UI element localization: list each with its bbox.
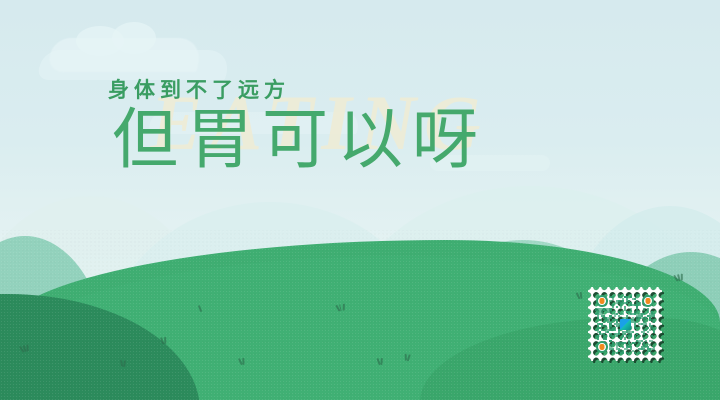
qr-finder-icon xyxy=(642,295,654,307)
poster-canvas: EATING 身体到不了远方 但胃可以呀 xyxy=(0,0,720,400)
poster-headline: 但胃可以呀 xyxy=(112,100,487,180)
qr-center-logo-icon xyxy=(620,319,631,330)
qr-code-modules xyxy=(595,294,655,354)
qr-finder-icon xyxy=(596,295,608,307)
qr-finder-icon xyxy=(596,341,608,353)
qr-code-stamp[interactable] xyxy=(588,287,662,361)
